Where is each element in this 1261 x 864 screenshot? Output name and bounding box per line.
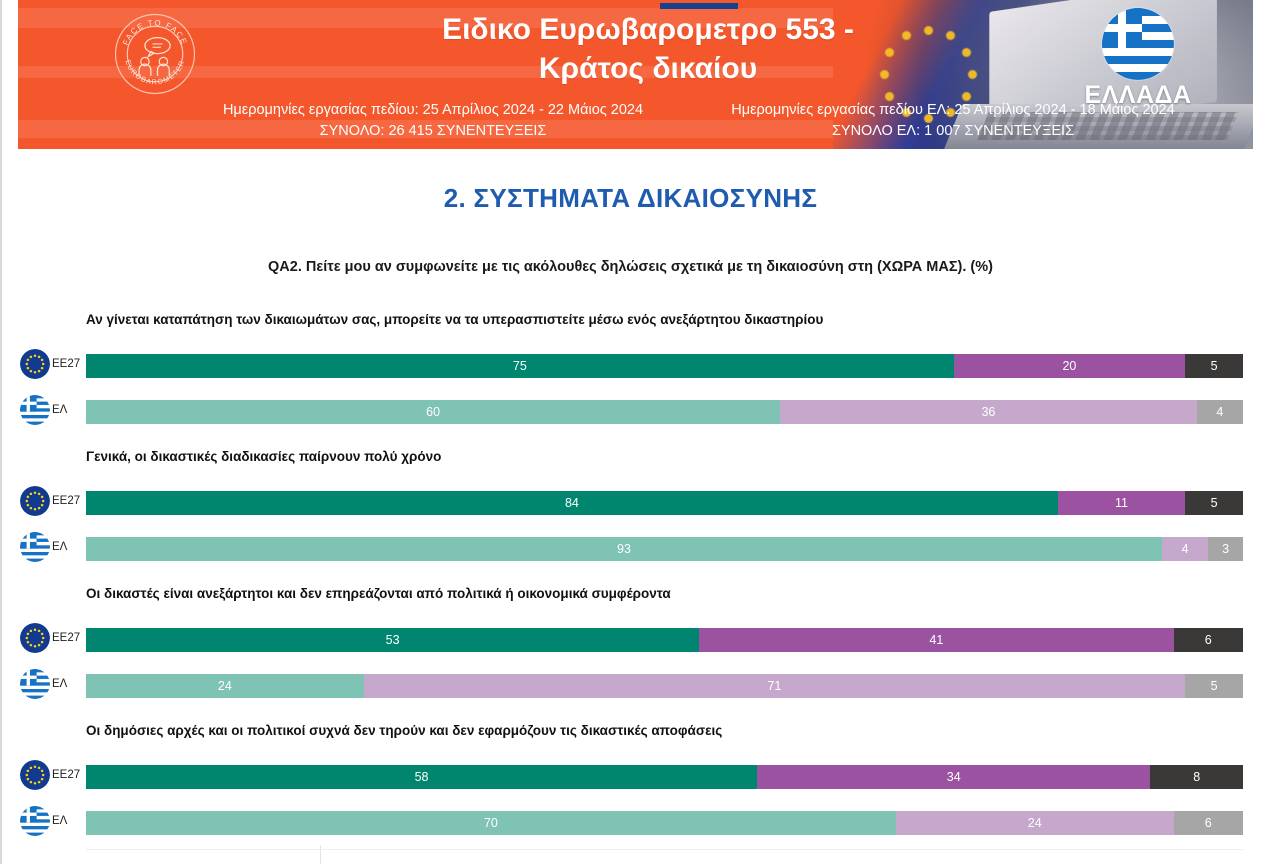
bar-row-label: ΕΛ	[52, 678, 67, 690]
bar-row-label: ΕΛ	[52, 815, 67, 827]
stacked-bar: 84115	[86, 491, 1243, 515]
bar-segment-dontknow: 5	[1185, 674, 1243, 698]
bar-row-el: ΕΛ70246	[0, 811, 1261, 835]
eu-flag-icon	[20, 486, 50, 516]
bar-segment-disagree: 41	[699, 628, 1173, 652]
statement-label: Γενικά, οι δικαστικές διαδικασίες παίρνο…	[86, 449, 441, 464]
statement-group: Γενικά, οι δικαστικές διαδικασίες παίρνο…	[0, 437, 1261, 574]
blue-tab-accent	[660, 3, 738, 9]
fieldwork-el-total: ΣΥΝΟΛΟ ΕΛ: 1 007 ΣΥΝΕΝΤΕΥΞΕΙΣ	[658, 121, 1248, 142]
bar-segment-agree: 53	[86, 628, 699, 652]
bar-segment-agree: 58	[86, 765, 757, 789]
stacked-bar-chart: Αν γίνεται καταπάτηση των δικαιωμάτων σα…	[0, 300, 1261, 848]
bar-segment-dontknow: 8	[1150, 765, 1243, 789]
statement-label: Οι δημόσιες αρχές και οι πολιτικοί συχνά…	[86, 723, 722, 738]
face-to-face-eurobarometer-logo: FACE TO FACE EUROBAROMETER	[113, 12, 197, 96]
eu-flag-icon	[20, 760, 50, 790]
stacked-bar: 75205	[86, 354, 1243, 378]
bottom-baseline	[86, 849, 1243, 850]
bar-row-label: ΕΕ27	[52, 358, 80, 370]
bar-segment-disagree: 4	[1162, 537, 1208, 561]
bar-segment-dontknow: 5	[1185, 491, 1243, 515]
bar-row-eu27: ΕΕ2753416	[0, 628, 1261, 652]
fieldwork-el: Ημερομηνίες εργασίας πεδίου ΕΛ: 25 Απρίλ…	[658, 100, 1248, 142]
bar-segment-dontknow: 6	[1174, 628, 1243, 652]
greece-flag-icon	[20, 806, 50, 836]
bar-segment-disagree: 11	[1058, 491, 1185, 515]
stacked-bar: 60364	[86, 400, 1243, 424]
bar-segment-disagree: 20	[954, 354, 1185, 378]
bar-row-eu27: ΕΕ2784115	[0, 491, 1261, 515]
question-text: QA2. Πείτε μου αν συμφωνείτε με τις ακόλ…	[0, 259, 1261, 275]
section-title: 2. ΣΥΣΤΗΜΑΤΑ ΔΙΚΑΙΟΣΥΝΗΣ	[0, 183, 1261, 214]
bar-segment-dontknow: 4	[1197, 400, 1243, 424]
bar-segment-disagree: 71	[364, 674, 1185, 698]
fieldwork-eu-total: ΣΥΝΟΛΟ: 26 415 ΣΥΝΕΝΤΕΥΞΕΙΣ	[138, 121, 728, 142]
bar-segment-agree: 24	[86, 674, 364, 698]
bar-row-el: ΕΛ9343	[0, 537, 1261, 561]
stacked-bar: 24715	[86, 674, 1243, 698]
bar-segment-dontknow: 6	[1174, 811, 1243, 835]
bar-segment-disagree: 24	[896, 811, 1174, 835]
greece-flag-icon	[20, 532, 50, 562]
bar-segment-agree: 84	[86, 491, 1058, 515]
fieldwork-eu: Ημερομηνίες εργασίας πεδίου: 25 Απρίλιος…	[138, 100, 728, 142]
bar-row-label: ΕΕ27	[52, 632, 80, 644]
bar-segment-agree: 70	[86, 811, 896, 835]
statement-group: Αν γίνεται καταπάτηση των δικαιωμάτων σα…	[0, 300, 1261, 437]
bar-segment-disagree: 36	[780, 400, 1197, 424]
statement-group: Οι δημόσιες αρχές και οι πολιτικοί συχνά…	[0, 711, 1261, 848]
bar-segment-agree: 75	[86, 354, 954, 378]
greece-flag-icon	[20, 395, 50, 425]
bar-segment-dontknow: 5	[1185, 354, 1243, 378]
fieldwork-eu-dates: Ημερομηνίες εργασίας πεδίου: 25 Απρίλιος…	[138, 100, 728, 121]
header-banner: FACE TO FACE EUROBAROMETER Ειδικο Ευρωβα…	[18, 0, 1253, 149]
stacked-bar: 58348	[86, 765, 1243, 789]
country-badge: ΕΛΛΑΔΑ	[1073, 8, 1203, 110]
bar-segment-dontknow: 3	[1208, 537, 1243, 561]
bar-row-label: ΕΕ27	[52, 495, 80, 507]
stacked-bar: 70246	[86, 811, 1243, 835]
bar-row-el: ΕΛ24715	[0, 674, 1261, 698]
bar-segment-agree: 60	[86, 400, 780, 424]
bottom-divider	[320, 845, 321, 864]
bar-row-el: ΕΛ60364	[0, 400, 1261, 424]
statement-label: Οι δικαστές είναι ανεξάρτητοι και δεν επ…	[86, 586, 671, 601]
eu-flag-icon	[20, 349, 50, 379]
statement-group: Οι δικαστές είναι ανεξάρτητοι και δεν επ…	[0, 574, 1261, 711]
bar-segment-disagree: 34	[757, 765, 1150, 789]
banner-title-line2: Κράτος δικαίου	[348, 49, 948, 88]
eu-flag-icon	[20, 623, 50, 653]
bar-segment-agree: 93	[86, 537, 1162, 561]
bar-row-label: ΕΛ	[52, 404, 67, 416]
bar-row-eu27: ΕΕ2758348	[0, 765, 1261, 789]
banner-title: Ειδικο Ευρωβαρομετρο 553 - Κράτος δικαίο…	[348, 10, 948, 88]
bar-row-label: ΕΛ	[52, 541, 67, 553]
greece-flag-icon	[20, 669, 50, 699]
stacked-bar: 9343	[86, 537, 1243, 561]
greece-flag-icon	[1102, 8, 1174, 80]
slide-page: FACE TO FACE EUROBAROMETER Ειδικο Ευρωβα…	[0, 0, 1261, 864]
bar-row-eu27: ΕΕ2775205	[0, 354, 1261, 378]
banner-title-line1: Ειδικο Ευρωβαρομετρο 553 -	[348, 10, 948, 49]
bar-row-label: ΕΕ27	[52, 769, 80, 781]
statement-label: Αν γίνεται καταπάτηση των δικαιωμάτων σα…	[86, 312, 823, 327]
stacked-bar: 53416	[86, 628, 1243, 652]
svg-text:EUROBAROMETER: EUROBAROMETER	[124, 59, 187, 86]
fieldwork-el-dates: Ημερομηνίες εργασίας πεδίου ΕΛ: 25 Απρίλ…	[658, 100, 1248, 121]
